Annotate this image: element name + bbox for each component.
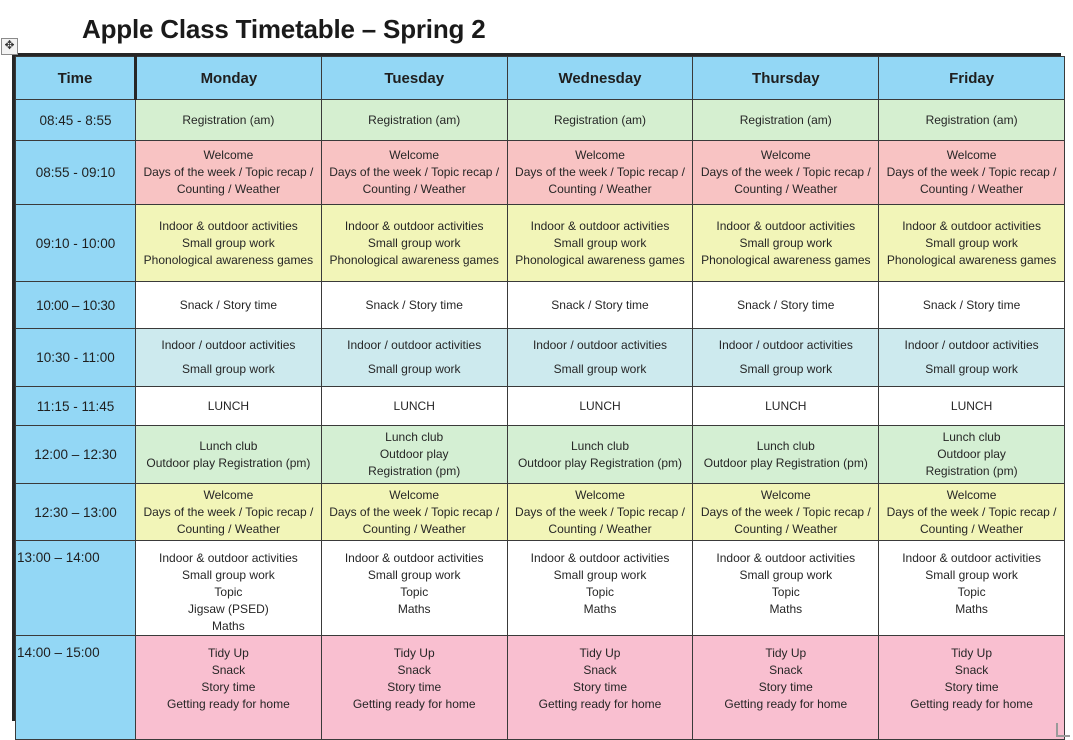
schedule-cell: Welcome Days of the week / Topic recap /… (693, 484, 879, 541)
cell-line: Indoor & outdoor activities (322, 218, 507, 235)
cell-line: Tidy Up (693, 645, 878, 662)
cell-line: Welcome (508, 487, 693, 504)
cell-line: Outdoor play Registration (pm) (693, 455, 878, 472)
cell-line: Small group work (136, 361, 321, 378)
cell-line: Welcome (508, 147, 693, 164)
cell-line: Tidy Up (136, 645, 321, 662)
cell-line: Registration (pm) (879, 463, 1064, 480)
cell-line: Days of the week / Topic recap / Countin… (136, 504, 321, 538)
schedule-cell: Snack / Story time (507, 282, 693, 329)
cell-line: Registration (am) (508, 112, 693, 129)
cell-line: Outdoor play Registration (pm) (136, 455, 321, 472)
cell-line: Phonological awareness games (136, 252, 321, 269)
schedule-cell: Welcome Days of the week / Topic recap /… (879, 484, 1065, 541)
cell-line: Snack / Story time (508, 297, 693, 314)
cell-line: Days of the week / Topic recap / Countin… (879, 504, 1064, 538)
time-slot: 12:00 – 12:30 (16, 426, 136, 484)
schedule-cell: Indoor & outdoor activities Small group … (879, 205, 1065, 282)
schedule-cell: Welcome Days of the week / Topic recap /… (136, 484, 322, 541)
cell-line: Indoor & outdoor activities (693, 550, 878, 567)
time-slot: 11:15 - 11:45 (16, 387, 136, 426)
cell-line: Small group work (322, 361, 507, 378)
cell-line: Getting ready for home (322, 696, 507, 713)
cell-line: Phonological awareness games (322, 252, 507, 269)
table-row: 12:30 – 13:00 Welcome Days of the week /… (16, 484, 1065, 541)
cell-line: Small group work (136, 235, 321, 252)
schedule-cell: Indoor & outdoor activities Small group … (136, 205, 322, 282)
cell-line: Snack / Story time (879, 297, 1064, 314)
cell-line: LUNCH (322, 398, 507, 415)
cell-line: Lunch club (136, 438, 321, 455)
cell-line: Days of the week / Topic recap / Countin… (879, 164, 1064, 198)
cell-line: Days of the week / Topic recap / Countin… (693, 504, 878, 538)
schedule-cell: Indoor & outdoor activities Small group … (136, 541, 322, 636)
cell-line: Story time (508, 679, 693, 696)
cell-line: Days of the week / Topic recap / Countin… (322, 164, 507, 198)
cell-line: Indoor / outdoor activities (508, 337, 693, 354)
cell-line: Indoor / outdoor activities (136, 337, 321, 354)
cell-line: Lunch club (879, 429, 1064, 446)
cell-line: LUNCH (508, 398, 693, 415)
cell-line: Welcome (322, 147, 507, 164)
schedule-cell: LUNCH (879, 387, 1065, 426)
cell-line: Lunch club (508, 438, 693, 455)
schedule-cell: Lunch club Outdoor play Registration (pm… (507, 426, 693, 484)
schedule-cell: Welcome Days of the week / Topic recap /… (321, 484, 507, 541)
cell-line: Story time (322, 679, 507, 696)
cell-line: Small group work (879, 235, 1064, 252)
schedule-cell: Tidy Up Snack Story time Getting ready f… (321, 636, 507, 740)
cell-line: Maths (879, 601, 1064, 618)
cell-line: Getting ready for home (136, 696, 321, 713)
cell-line: Indoor / outdoor activities (879, 337, 1064, 354)
schedule-cell: Registration (am) (507, 100, 693, 141)
cell-line: Small group work (322, 567, 507, 584)
schedule-cell: Indoor & outdoor activities Small group … (321, 541, 507, 636)
cell-line: Outdoor play (322, 446, 507, 463)
cell-line: Registration (am) (879, 112, 1064, 129)
cell-line: Welcome (136, 487, 321, 504)
cell-line: Outdoor play (879, 446, 1064, 463)
schedule-cell: Welcome Days of the week / Topic recap /… (879, 141, 1065, 205)
cell-line: Story time (879, 679, 1064, 696)
schedule-cell: LUNCH (136, 387, 322, 426)
cell-line: Tidy Up (879, 645, 1064, 662)
table-row: 08:55 - 09:10 Welcome Days of the week /… (16, 141, 1065, 205)
cell-line: Welcome (693, 147, 878, 164)
cell-line: Days of the week / Topic recap / Countin… (136, 164, 321, 198)
cell-line: Small group work (322, 235, 507, 252)
column-header-monday: Monday (136, 57, 322, 100)
schedule-cell: Registration (am) (321, 100, 507, 141)
time-slot: 09:10 - 10:00 (16, 205, 136, 282)
cell-line: Topic (136, 584, 321, 601)
cell-line: Indoor / outdoor activities (322, 337, 507, 354)
column-header-thursday: Thursday (693, 57, 879, 100)
timetable-container: Time Monday Tuesday Wednesday Thursday F… (12, 53, 1061, 721)
cell-line: Phonological awareness games (879, 252, 1064, 269)
cell-line: Small group work (693, 235, 878, 252)
schedule-cell: LUNCH (321, 387, 507, 426)
schedule-cell: Indoor & outdoor activities Small group … (693, 541, 879, 636)
time-slot: 14:00 – 15:00 (16, 636, 136, 740)
column-header-friday: Friday (879, 57, 1065, 100)
cell-line: Topic (879, 584, 1064, 601)
cell-line: Maths (693, 601, 878, 618)
schedule-cell: Lunch club Outdoor play Registration (pm… (693, 426, 879, 484)
schedule-cell: LUNCH (507, 387, 693, 426)
schedule-cell: Indoor / outdoor activities Small group … (136, 329, 322, 387)
cell-line: Indoor & outdoor activities (322, 550, 507, 567)
cell-line: Small group work (879, 567, 1064, 584)
schedule-cell: Indoor & outdoor activities Small group … (507, 541, 693, 636)
schedule-cell: Snack / Story time (879, 282, 1065, 329)
schedule-cell: Tidy Up Snack Story time Getting ready f… (507, 636, 693, 740)
cell-line: Registration (am) (136, 112, 321, 129)
cell-line: Welcome (136, 147, 321, 164)
cell-line: Days of the week / Topic recap / Countin… (322, 504, 507, 538)
cell-line: Snack (508, 662, 693, 679)
table-row: 10:00 – 10:30 Snack / Story time Snack /… (16, 282, 1065, 329)
time-slot: 08:45 - 8:55 (16, 100, 136, 141)
schedule-cell: Lunch club Outdoor play Registration (pm… (136, 426, 322, 484)
schedule-cell: Tidy Up Snack Story time Getting ready f… (136, 636, 322, 740)
cell-line: Jigsaw (PSED) (136, 601, 321, 618)
column-header-tuesday: Tuesday (321, 57, 507, 100)
cell-line: LUNCH (693, 398, 878, 415)
schedule-cell: Snack / Story time (693, 282, 879, 329)
schedule-cell: Registration (am) (879, 100, 1065, 141)
cell-line: Indoor / outdoor activities (693, 337, 878, 354)
schedule-cell: Indoor / outdoor activities Small group … (879, 329, 1065, 387)
cell-line: Getting ready for home (693, 696, 878, 713)
cell-line: Story time (693, 679, 878, 696)
cell-line: Story time (136, 679, 321, 696)
cell-line: Phonological awareness games (693, 252, 878, 269)
schedule-cell: Lunch club Outdoor play Registration (pm… (879, 426, 1065, 484)
time-slot: 08:55 - 09:10 (16, 141, 136, 205)
schedule-cell: Lunch club Outdoor play Registration (pm… (321, 426, 507, 484)
cell-line: Snack (879, 662, 1064, 679)
cell-line: Getting ready for home (879, 696, 1064, 713)
cell-line: Welcome (879, 147, 1064, 164)
cell-line: Maths (508, 601, 693, 618)
cell-line: Small group work (693, 361, 878, 378)
schedule-cell: Registration (am) (693, 100, 879, 141)
cell-line: Tidy Up (508, 645, 693, 662)
cell-line: Indoor & outdoor activities (136, 550, 321, 567)
table-row: 14:00 – 15:00 Tidy Up Snack Story time G… (16, 636, 1065, 740)
cell-line: Snack (322, 662, 507, 679)
schedule-cell: Welcome Days of the week / Topic recap /… (507, 484, 693, 541)
cell-line: Welcome (322, 487, 507, 504)
cell-line: Getting ready for home (508, 696, 693, 713)
timetable: Time Monday Tuesday Wednesday Thursday F… (15, 56, 1065, 740)
schedule-cell: LUNCH (693, 387, 879, 426)
schedule-cell: Snack / Story time (136, 282, 322, 329)
schedule-cell: Welcome Days of the week / Topic recap /… (507, 141, 693, 205)
cell-line: Indoor & outdoor activities (879, 218, 1064, 235)
cell-line: Topic (508, 584, 693, 601)
time-slot: 13:00 – 14:00 (16, 541, 136, 636)
cell-line: Indoor & outdoor activities (693, 218, 878, 235)
cell-line: Topic (693, 584, 878, 601)
cell-line: Maths (136, 618, 321, 635)
cell-line: Indoor & outdoor activities (508, 218, 693, 235)
cell-line: Lunch club (322, 429, 507, 446)
cell-line: Lunch club (693, 438, 878, 455)
table-row: 12:00 – 12:30 Lunch club Outdoor play Re… (16, 426, 1065, 484)
cell-line: Indoor & outdoor activities (879, 550, 1064, 567)
table-row: 13:00 – 14:00 Indoor & outdoor activitie… (16, 541, 1065, 636)
cell-line: Outdoor play Registration (pm) (508, 455, 693, 472)
cell-line: Phonological awareness games (508, 252, 693, 269)
cell-line: Maths (322, 601, 507, 618)
schedule-cell: Welcome Days of the week / Topic recap /… (321, 141, 507, 205)
column-header-time: Time (16, 57, 136, 100)
table-row: 08:45 - 8:55 Registration (am) Registrat… (16, 100, 1065, 141)
page-title: Apple Class Timetable – Spring 2 (82, 14, 485, 45)
cell-line: Small group work (508, 361, 693, 378)
time-slot: 10:30 - 11:00 (16, 329, 136, 387)
schedule-cell: Indoor / outdoor activities Small group … (693, 329, 879, 387)
table-row: 11:15 - 11:45 LUNCH LUNCH LUNCH LUNCH LU… (16, 387, 1065, 426)
cell-line: Welcome (693, 487, 878, 504)
schedule-cell: Welcome Days of the week / Topic recap /… (136, 141, 322, 205)
schedule-cell: Tidy Up Snack Story time Getting ready f… (879, 636, 1065, 740)
cell-line: Indoor & outdoor activities (136, 218, 321, 235)
cell-line: Days of the week / Topic recap / Countin… (508, 164, 693, 198)
schedule-cell: Registration (am) (136, 100, 322, 141)
cell-line: Topic (322, 584, 507, 601)
time-slot: 12:30 – 13:00 (16, 484, 136, 541)
cell-line: LUNCH (136, 398, 321, 415)
schedule-cell: Indoor & outdoor activities Small group … (879, 541, 1065, 636)
cell-line: Indoor & outdoor activities (508, 550, 693, 567)
cell-line: Snack (136, 662, 321, 679)
table-header-row: Time Monday Tuesday Wednesday Thursday F… (16, 57, 1065, 100)
table-row: 09:10 - 10:00 Indoor & outdoor activitie… (16, 205, 1065, 282)
cell-line: Snack / Story time (136, 297, 321, 314)
schedule-cell: Indoor / outdoor activities Small group … (321, 329, 507, 387)
cell-line: Tidy Up (322, 645, 507, 662)
cell-line: Snack / Story time (322, 297, 507, 314)
cell-line: Small group work (508, 235, 693, 252)
cell-line: Small group work (136, 567, 321, 584)
cell-line: Registration (am) (322, 112, 507, 129)
schedule-cell: Indoor & outdoor activities Small group … (507, 205, 693, 282)
cell-line: Welcome (879, 487, 1064, 504)
table-row: 10:30 - 11:00 Indoor / outdoor activitie… (16, 329, 1065, 387)
cell-line: Registration (pm) (322, 463, 507, 480)
cell-line: Small group work (508, 567, 693, 584)
table-resize-handle-icon[interactable] (1056, 723, 1070, 737)
table-move-handle-icon[interactable]: ✥ (1, 38, 18, 55)
cell-line: Snack / Story time (693, 297, 878, 314)
cell-line: LUNCH (879, 398, 1064, 415)
schedule-cell: Welcome Days of the week / Topic recap /… (693, 141, 879, 205)
schedule-cell: Tidy Up Snack Story time Getting ready f… (693, 636, 879, 740)
schedule-cell: Indoor / outdoor activities Small group … (507, 329, 693, 387)
schedule-cell: Indoor & outdoor activities Small group … (321, 205, 507, 282)
cell-line: Small group work (879, 361, 1064, 378)
schedule-cell: Indoor & outdoor activities Small group … (693, 205, 879, 282)
schedule-cell: Snack / Story time (321, 282, 507, 329)
cell-line: Days of the week / Topic recap / Countin… (508, 504, 693, 538)
cell-line: Snack (693, 662, 878, 679)
cell-line: Registration (am) (693, 112, 878, 129)
cell-line: Small group work (693, 567, 878, 584)
column-header-wednesday: Wednesday (507, 57, 693, 100)
cell-line: Days of the week / Topic recap / Countin… (693, 164, 878, 198)
time-slot: 10:00 – 10:30 (16, 282, 136, 329)
